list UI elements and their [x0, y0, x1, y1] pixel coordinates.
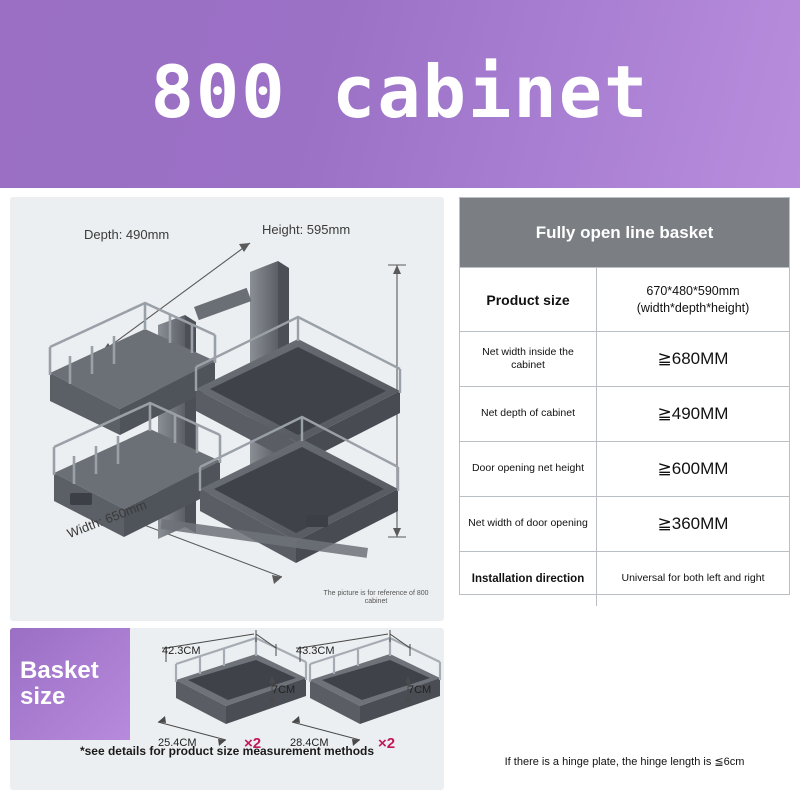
spec-key: Net width of door opening [460, 497, 597, 551]
spec-value: ≧360MM [597, 497, 789, 551]
table-row: Door opening net height ≧600MM [460, 441, 789, 496]
basket2-side-dimension: 7CM [408, 684, 431, 696]
spec-value: ≧490MM [597, 387, 789, 441]
table-row: Net depth of cabinet ≧490MM [460, 386, 789, 441]
depth-dimension-label: Depth: 490mm [84, 227, 169, 242]
page-banner: 800 cabinet [0, 0, 800, 188]
hinge-note: If there is a hinge plate, the hinge len… [459, 755, 790, 768]
measurement-footnote: *see details for product size measuremen… [10, 744, 444, 758]
page-title: 800 cabinet [151, 56, 650, 128]
spec-table: Fully open line basket Product size 670*… [459, 197, 790, 595]
basket1-side-dimension: 7CM [272, 684, 295, 696]
spec-key: Installation direction [460, 552, 597, 606]
basket-dimension-illustration [10, 628, 444, 748]
product-diagram-panel: Depth: 490mm Height: 595mm Width: 650mm … [10, 197, 444, 621]
spec-value: 670*480*590mm (width*depth*height) [597, 268, 789, 331]
table-row: Net width of door opening ≧360MM [460, 496, 789, 551]
reference-note: The picture is for reference of 800 cabi… [316, 590, 436, 608]
spec-key: Net depth of cabinet [460, 387, 597, 441]
spec-key: Net width inside the cabinet [460, 332, 597, 386]
height-dimension-label: Height: 595mm [262, 222, 350, 237]
spec-key: Door opening net height [460, 442, 597, 496]
spec-key: Product size [460, 268, 597, 331]
spec-value: ≧600MM [597, 442, 789, 496]
spec-table-header: Fully open line basket [460, 198, 789, 267]
basket-size-panel: Basket size [10, 628, 444, 790]
basket1-top-dimension: 42.3CM [162, 645, 201, 657]
basket2-top-dimension: 43.3CM [296, 645, 335, 657]
spec-value: Universal for both left and right [597, 552, 789, 606]
table-row: Product size 670*480*590mm (width*depth*… [460, 267, 789, 331]
table-row: Net width inside the cabinet ≧680MM [460, 331, 789, 386]
pullout-basket-illustration [10, 197, 444, 621]
spec-value: ≧680MM [597, 332, 789, 386]
table-row: Installation direction Universal for bot… [460, 551, 789, 606]
